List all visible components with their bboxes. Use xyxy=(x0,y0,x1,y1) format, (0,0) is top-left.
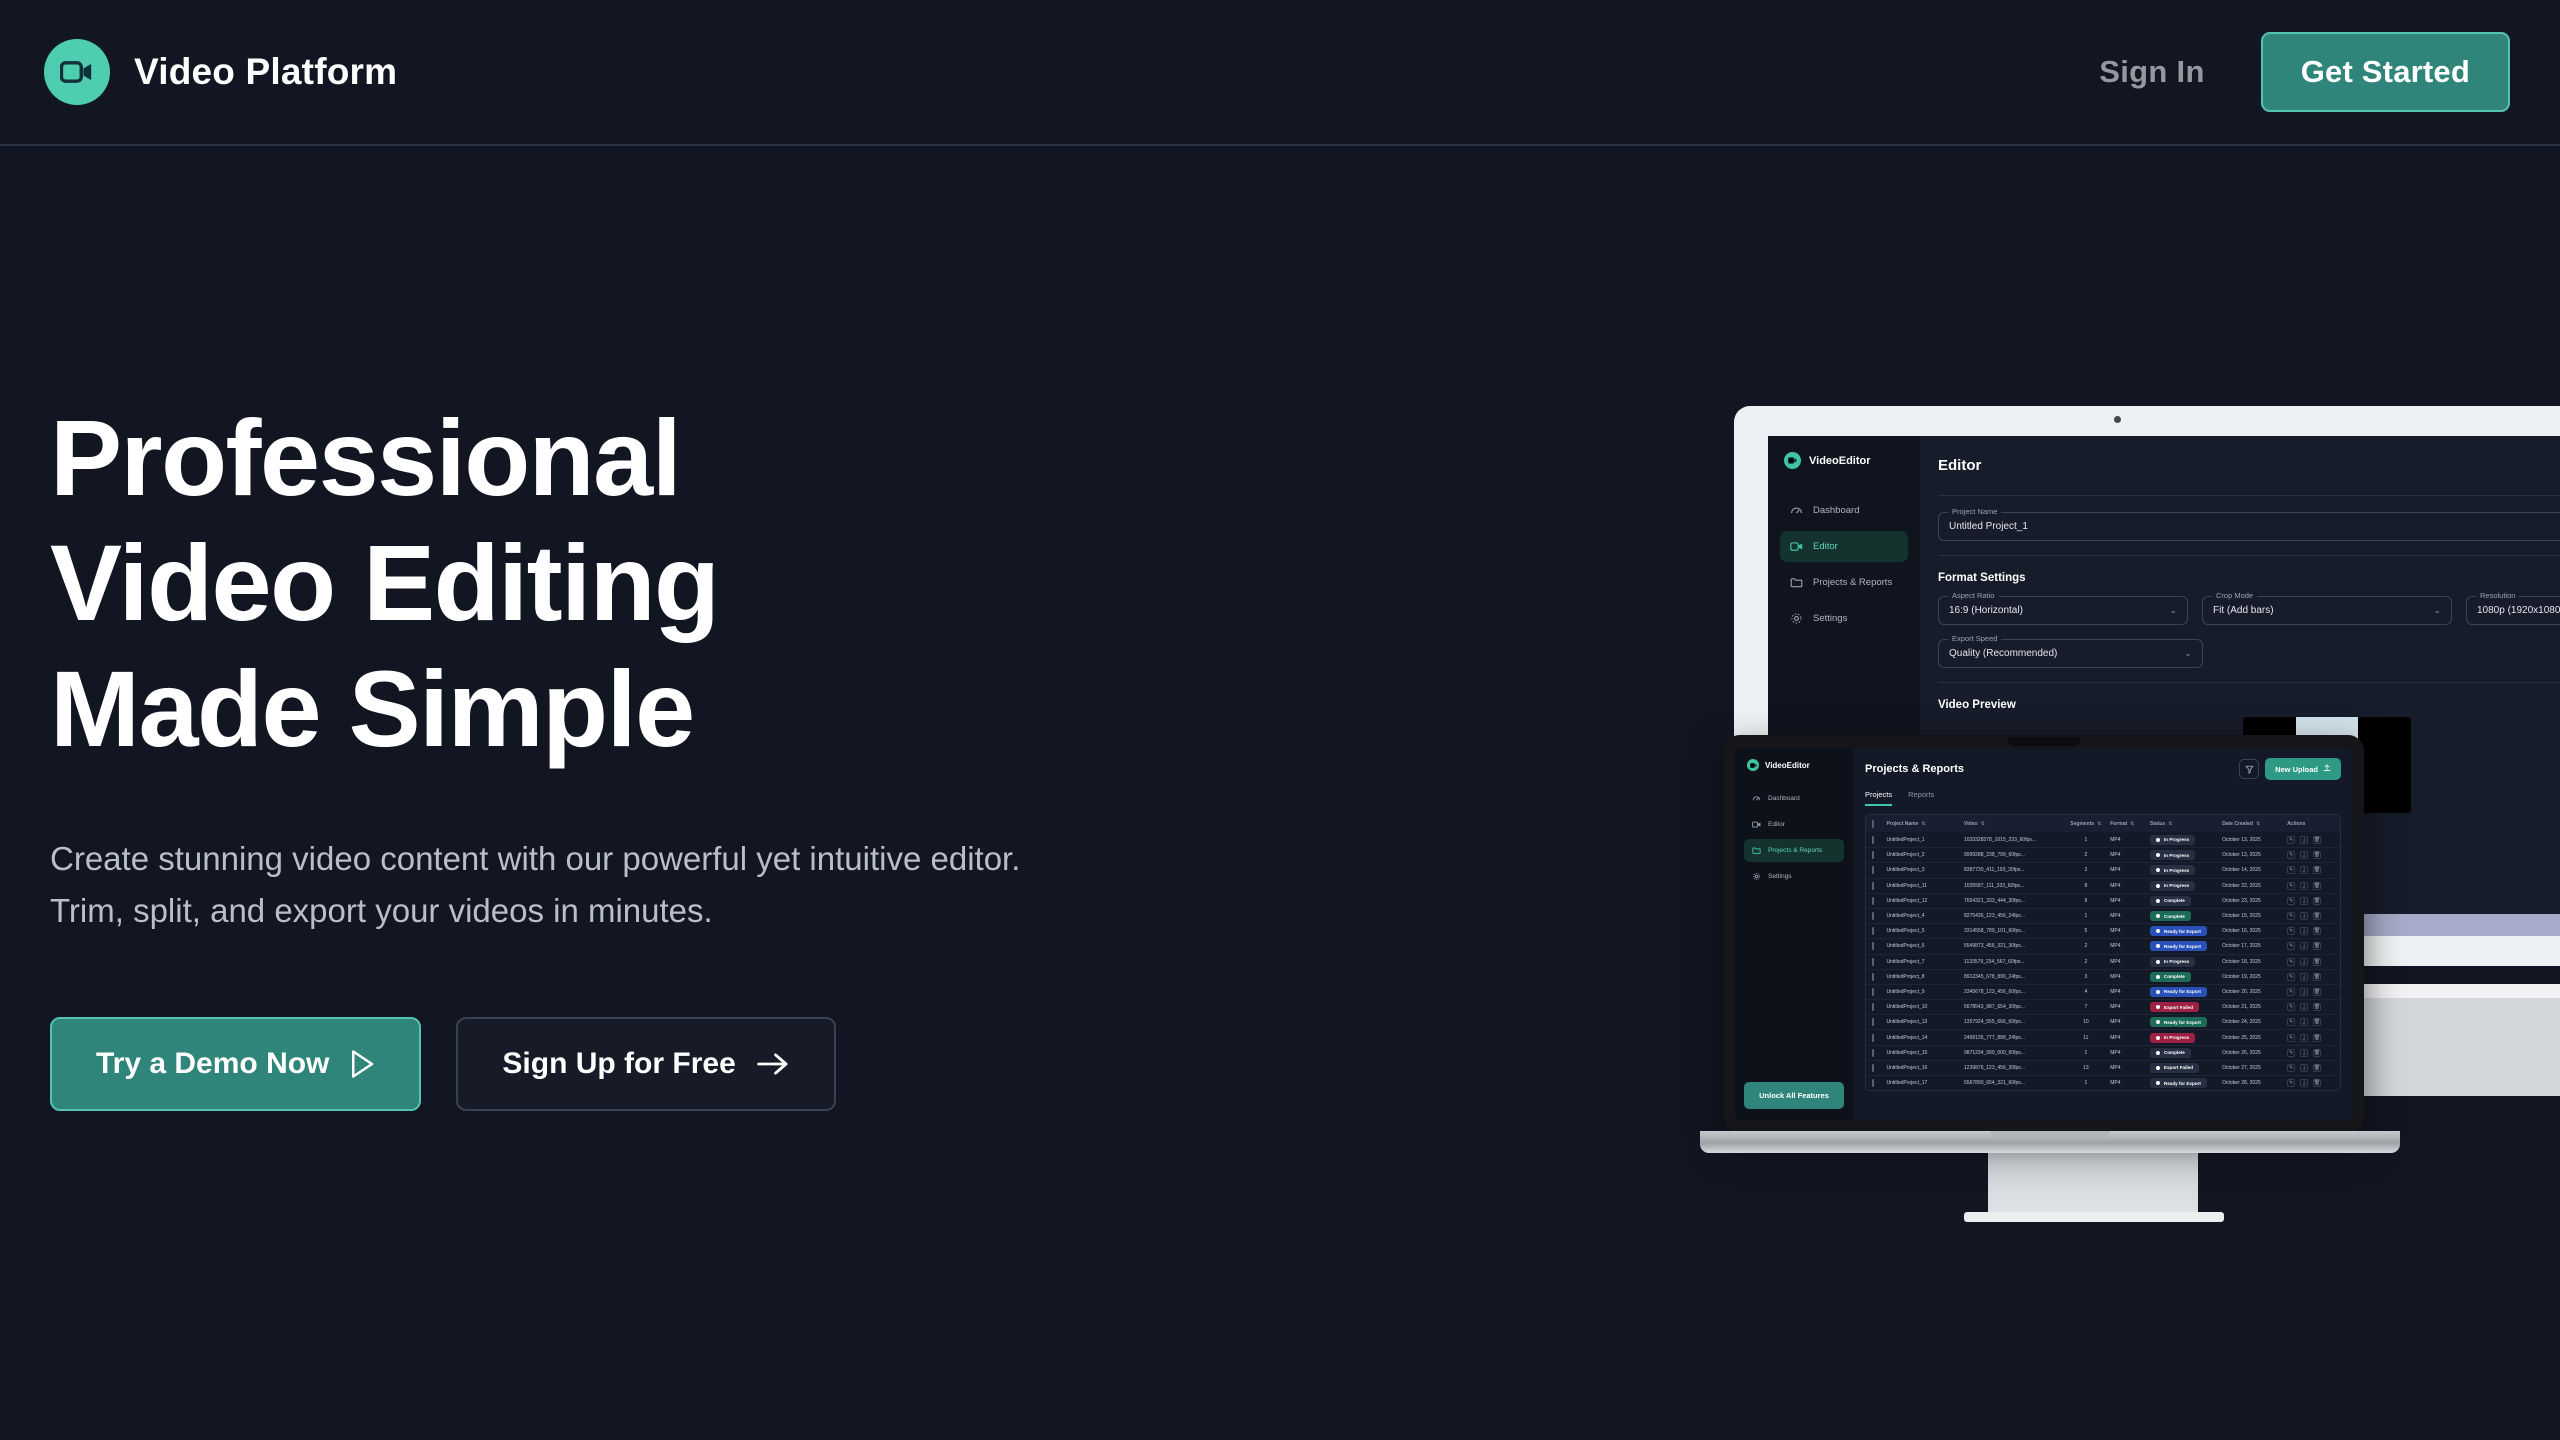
col-project-name[interactable]: Project Name⇅ xyxy=(1886,821,1964,827)
cell-format: MP4 xyxy=(2110,989,2150,995)
laptop-notch xyxy=(2008,737,2080,746)
cell-video: 1033328378_1015_233_60fps... xyxy=(1964,837,2061,843)
download-icon[interactable]: ⤓ xyxy=(2300,1079,2308,1087)
cell-date-created: October 17, 2025 xyxy=(2222,943,2287,949)
row-checkbox[interactable] xyxy=(1872,913,1886,919)
cell-date-created: October 25, 2025 xyxy=(2222,1035,2287,1041)
row-checkbox[interactable] xyxy=(1872,943,1886,949)
download-icon[interactable]: ⤓ xyxy=(2300,973,2308,981)
cell-actions: ✎⤓🗑 xyxy=(2287,1079,2334,1087)
cell-video: 2468135_777_888_24fps... xyxy=(1964,1035,2061,1041)
row-checkbox[interactable] xyxy=(1872,1050,1886,1056)
status-badge: Complete xyxy=(2150,911,2222,921)
row-checkbox[interactable] xyxy=(1872,989,1886,995)
cell-video: 5567890_654_321_60fps... xyxy=(1964,1080,2061,1086)
table-row[interactable]: UntitledProject_88912345_678_890_24fps..… xyxy=(1866,969,2340,984)
video-camera-icon xyxy=(44,39,110,105)
sign-up-free-button[interactable]: Sign Up for Free xyxy=(456,1017,835,1111)
cell-video: 8387730_411_193_30fps... xyxy=(1964,867,2061,873)
col-status[interactable]: Status⇅ xyxy=(2150,821,2222,827)
editor-brand-name: VideoEditor xyxy=(1809,455,1871,467)
edit-icon[interactable]: ✎ xyxy=(2287,1064,2295,1072)
aspect-ratio-select[interactable]: Aspect Ratio 16:9 (Horizontal) ⌄ xyxy=(1938,596,2188,625)
delete-icon[interactable]: 🗑 xyxy=(2313,1003,2321,1011)
cell-video: 8275436_123_456_24fps... xyxy=(1964,913,2061,919)
delete-icon[interactable]: 🗑 xyxy=(2313,988,2321,996)
edit-icon[interactable]: ✎ xyxy=(2287,942,2295,950)
crop-mode-value: Fit (Add bars) xyxy=(2213,605,2274,616)
cell-project-name: UntitledProject_9 xyxy=(1886,989,1964,995)
cell-actions: ✎⤓🗑 xyxy=(2287,973,2334,981)
cell-format: MP4 xyxy=(2110,1050,2150,1056)
laptop-screen: VideoEditor Dashboard Edit xyxy=(1735,748,2353,1120)
chevron-down-icon: ⌄ xyxy=(2433,605,2441,616)
cell-project-name: UntitledProject_7 xyxy=(1886,959,1964,965)
col-segments[interactable]: Segments⇅ xyxy=(2061,821,2110,827)
cell-segments: 3 xyxy=(2061,867,2110,873)
sidebar-label: Settings xyxy=(1813,613,1847,624)
projects-header-actions: New Upload xyxy=(2239,758,2341,780)
cell-actions: ✎⤓🗑 xyxy=(2287,1018,2334,1026)
row-checkbox[interactable] xyxy=(1872,1035,1886,1041)
sidebar-item-projects-reports[interactable]: Projects & Reports xyxy=(1780,567,1908,598)
edit-icon[interactable]: ✎ xyxy=(2287,882,2295,890)
cell-segments: 9 xyxy=(2061,898,2110,904)
landing-page: Video Platform Sign In Get Started Profe… xyxy=(0,0,2560,1440)
download-icon[interactable]: ⤓ xyxy=(2300,942,2308,950)
col-video[interactable]: Video⇅ xyxy=(1964,821,2061,827)
cell-actions: ✎⤓🗑 xyxy=(2287,1034,2334,1042)
arrow-right-icon xyxy=(756,1051,790,1077)
laptop-mockup: VideoEditor Dashboard Edit xyxy=(1700,735,2400,1175)
section-divider xyxy=(1938,555,2560,556)
cell-actions: ✎⤓🗑 xyxy=(2287,912,2334,920)
delete-icon[interactable]: 🗑 xyxy=(2313,851,2321,859)
col-format[interactable]: Format⇅ xyxy=(2110,821,2150,827)
status-badge: Complete xyxy=(2150,896,2222,906)
download-icon[interactable]: ⤓ xyxy=(2300,927,2308,935)
download-icon[interactable]: ⤓ xyxy=(2300,836,2308,844)
edit-icon[interactable]: ✎ xyxy=(2287,1049,2295,1057)
video-icon xyxy=(1784,452,1801,469)
cell-video: 3314558_789_101_60fps... xyxy=(1964,928,2061,934)
video-icon xyxy=(1747,759,1759,771)
edit-icon[interactable]: ✎ xyxy=(2287,927,2295,935)
cell-segments: 2 xyxy=(2061,959,2110,965)
brand-logo-group[interactable]: Video Platform xyxy=(44,39,397,105)
cell-project-name: UntitledProject_2 xyxy=(1886,852,1964,858)
cell-video: 9999288_238_799_60fps... xyxy=(1964,852,2061,858)
cell-format: MP4 xyxy=(2110,1019,2150,1025)
edit-icon[interactable]: ✎ xyxy=(2287,958,2295,966)
cell-format: MP4 xyxy=(2110,959,2150,965)
sidebar-item-settings[interactable]: Settings xyxy=(1780,603,1908,634)
table-row[interactable]: UntitledProject_92345678_123_456_60fps..… xyxy=(1866,984,2340,999)
cell-video: 5549873_456_321_30fps... xyxy=(1964,943,2061,949)
monitor-camera-dot xyxy=(2114,416,2121,423)
delete-icon[interactable]: 🗑 xyxy=(2313,927,2321,935)
new-upload-label: New Upload xyxy=(2275,765,2318,774)
status-badge: In Progress xyxy=(2150,1033,2222,1043)
export-speed-value: Quality (Recommended) xyxy=(1949,648,2057,659)
col-date-created[interactable]: Date Created⇅ xyxy=(2222,821,2287,827)
row-checkbox[interactable] xyxy=(1872,898,1886,904)
cell-format: MP4 xyxy=(2110,974,2150,980)
cell-actions: ✎⤓🗑 xyxy=(2287,1049,2334,1057)
page-title: Professional Video Editing Made Simple xyxy=(50,395,1100,771)
tab-projects[interactable]: Projects xyxy=(1865,790,1892,806)
delete-icon[interactable]: 🗑 xyxy=(2313,958,2321,966)
status-badge: In Progress xyxy=(2150,957,2222,967)
edit-icon[interactable]: ✎ xyxy=(2287,866,2295,874)
cell-segments: 2 xyxy=(2061,852,2110,858)
sidebar-item-dashboard[interactable]: Dashboard xyxy=(1780,495,1908,526)
cell-video: 5678543_987_654_30fps... xyxy=(1964,1004,2061,1010)
edit-icon[interactable]: ✎ xyxy=(2287,897,2295,905)
projects-brand: VideoEditor xyxy=(1744,759,1844,771)
hero-section: Professional Video Editing Made Simple C… xyxy=(50,395,1100,1111)
gear-icon xyxy=(1752,872,1761,881)
download-icon[interactable]: ⤓ xyxy=(2300,897,2308,905)
sign-up-label: Sign Up for Free xyxy=(502,1047,735,1081)
row-checkbox[interactable] xyxy=(1872,852,1886,858)
edit-icon[interactable]: ✎ xyxy=(2287,988,2295,996)
select-all-checkbox[interactable] xyxy=(1872,821,1886,827)
format-settings-title: Format Settings xyxy=(1938,572,2560,584)
resolution-select[interactable]: Resolution 1080p (1920x1080) ⌄ xyxy=(2466,596,2560,625)
download-icon[interactable]: ⤓ xyxy=(2300,851,2308,859)
cell-actions: ✎⤓🗑 xyxy=(2287,882,2334,890)
sort-icon: ⇅ xyxy=(2097,821,2101,827)
brand-name: Video Platform xyxy=(134,51,397,93)
format-fields-row-2: Export Speed Quality (Recommended) ⌄ xyxy=(1938,639,2560,668)
sidebar-item-projects-reports[interactable]: Projects & Reports xyxy=(1744,839,1844,862)
cell-video: 1133579_234_567_60fps... xyxy=(1964,959,2061,965)
cell-segments: 2 xyxy=(2061,943,2110,949)
status-badge: Complete xyxy=(2150,972,2222,982)
sort-icon: ⇅ xyxy=(2168,821,2172,827)
download-icon[interactable]: ⤓ xyxy=(2300,1064,2308,1072)
cell-date-created: October 23, 2025 xyxy=(2222,898,2287,904)
filter-icon[interactable] xyxy=(2239,759,2259,779)
projects-tabs: Projects Reports xyxy=(1865,790,2341,806)
table-row[interactable]: UntitledProject_127654321_333_444_30fps.… xyxy=(1866,893,2340,908)
delete-icon[interactable]: 🗑 xyxy=(2313,1064,2321,1072)
gear-icon xyxy=(1790,612,1803,625)
download-icon[interactable]: ⤓ xyxy=(2300,1018,2308,1026)
status-badge: Ready for Export xyxy=(2150,1017,2222,1027)
cell-actions: ✎⤓🗑 xyxy=(2287,866,2334,874)
folder-icon xyxy=(1790,576,1803,589)
cell-video: 8912345_678_890_24fps... xyxy=(1964,974,2061,980)
upload-icon xyxy=(2323,764,2331,774)
cell-date-created: October 21, 2025 xyxy=(2222,1004,2287,1010)
cell-segments: 10 xyxy=(2061,1019,2110,1025)
play-icon xyxy=(349,1049,375,1079)
cell-project-name: UntitledProject_14 xyxy=(1886,1035,1964,1041)
sign-in-link[interactable]: Sign In xyxy=(2099,54,2204,90)
cell-segments: 1 xyxy=(2061,837,2110,843)
table-row[interactable]: UntitledProject_53314558_789_101_60fps..… xyxy=(1866,923,2340,938)
delete-icon[interactable]: 🗑 xyxy=(2313,1034,2321,1042)
video-preview-title: Video Preview xyxy=(1938,699,2016,711)
download-icon[interactable]: ⤓ xyxy=(2300,988,2308,996)
crop-mode-label: Crop Mode xyxy=(2212,591,2257,600)
cell-actions: ✎⤓🗑 xyxy=(2287,988,2334,996)
chevron-down-icon: ⌄ xyxy=(2184,648,2192,659)
cell-segments: 4 xyxy=(2061,989,2110,995)
edit-icon[interactable]: ✎ xyxy=(2287,1003,2295,1011)
table-row[interactable]: UntitledProject_38387730_411_193_30fps..… xyxy=(1866,862,2340,877)
cell-segments: 11 xyxy=(2061,1035,2110,1041)
status-badge: Complete xyxy=(2150,1048,2222,1058)
cell-date-created: October 19, 2025 xyxy=(2222,974,2287,980)
table-row[interactable]: UntitledProject_11033328378_1015_233_60f… xyxy=(1866,832,2340,847)
cell-segments: 8 xyxy=(2061,883,2110,889)
status-badge: In Progress xyxy=(2150,865,2222,875)
cell-project-name: UntitledProject_10 xyxy=(1886,1004,1964,1010)
status-badge: Ready for Export xyxy=(2150,1078,2222,1088)
table-row[interactable]: UntitledProject_71133579_234_567_60fps..… xyxy=(1866,954,2340,969)
hero-cta-row: Try a Demo Now Sign Up for Free xyxy=(50,1017,1100,1111)
sort-icon: ⇅ xyxy=(2256,821,2260,827)
delete-icon[interactable]: 🗑 xyxy=(2313,1049,2321,1057)
cell-actions: ✎⤓🗑 xyxy=(2287,927,2334,935)
try-demo-label: Try a Demo Now xyxy=(96,1047,329,1081)
projects-table: Project Name⇅ Video⇅ Segments⇅ Format⇅ S… xyxy=(1865,814,2341,1091)
sidebar-item-editor[interactable]: Editor xyxy=(1744,813,1844,836)
download-icon[interactable]: ⤓ xyxy=(2300,882,2308,890)
download-icon[interactable]: ⤓ xyxy=(2300,1003,2308,1011)
new-upload-button[interactable]: New Upload xyxy=(2265,758,2341,780)
download-icon[interactable]: ⤓ xyxy=(2300,912,2308,920)
cell-project-name: UntitledProject_12 xyxy=(1886,898,1964,904)
cell-date-created: October 22, 2025 xyxy=(2222,883,2287,889)
cell-project-name: UntitledProject_1 xyxy=(1886,837,1964,843)
sidebar-label: Editor xyxy=(1768,821,1785,828)
projects-main-panel: Projects & Reports New Upload xyxy=(1853,748,2353,1120)
cell-format: MP4 xyxy=(2110,852,2150,858)
edit-icon[interactable]: ✎ xyxy=(2287,1034,2295,1042)
cell-actions: ✎⤓🗑 xyxy=(2287,1064,2334,1072)
editor-page-title: Editor xyxy=(1938,457,1981,474)
tab-reports[interactable]: Reports xyxy=(1908,790,1934,806)
table-row[interactable]: UntitledProject_48275436_123_456_24fps..… xyxy=(1866,908,2340,923)
cell-format: MP4 xyxy=(2110,913,2150,919)
table-row[interactable]: UntitledProject_29999288_238_799_60fps..… xyxy=(1866,847,2340,862)
sidebar-label: Projects & Reports xyxy=(1768,847,1822,854)
cell-project-name: UntitledProject_4 xyxy=(1886,913,1964,919)
table-row[interactable]: UntitledProject_142468135_777_888_24fps.… xyxy=(1866,1029,2340,1044)
cell-project-name: UntitledProject_15 xyxy=(1886,1050,1964,1056)
cell-date-created: October 28, 2025 xyxy=(2222,1080,2287,1086)
cell-video: 9871234_999_000_60fps... xyxy=(1964,1050,2061,1056)
crop-mode-select[interactable]: Crop Mode Fit (Add bars) ⌄ xyxy=(2202,596,2452,625)
cell-date-created: October 24, 2025 xyxy=(2222,1019,2287,1025)
monitor-stand-foot xyxy=(1964,1212,2224,1222)
header-divider xyxy=(1938,495,2560,496)
row-checkbox[interactable] xyxy=(1872,974,1886,980)
cell-format: MP4 xyxy=(2110,837,2150,843)
cell-segments: 13 xyxy=(2061,1065,2110,1071)
row-checkbox[interactable] xyxy=(1872,959,1886,965)
preview-header: Video Preview Video player size xyxy=(1938,699,2560,711)
cell-date-created: October 14, 2025 xyxy=(2222,867,2287,873)
cell-video: 1239876_123_456_30fps... xyxy=(1964,1065,2061,1071)
unlock-all-features-button[interactable]: Unlock All Features xyxy=(1744,1082,1844,1109)
sidebar-label: Dashboard xyxy=(1768,795,1800,802)
video-icon xyxy=(1790,540,1803,553)
download-icon[interactable]: ⤓ xyxy=(2300,866,2308,874)
aspect-ratio-label: Aspect Ratio xyxy=(1948,591,1999,600)
cell-video: 2345678_123_456_60fps... xyxy=(1964,989,2061,995)
row-checkbox[interactable] xyxy=(1872,867,1886,873)
project-name-value: Untitled Project_1 xyxy=(1949,521,2028,532)
resolution-label: Resolution xyxy=(2476,591,2519,600)
row-checkbox[interactable] xyxy=(1872,837,1886,843)
edit-icon[interactable]: ✎ xyxy=(2287,851,2295,859)
sort-icon: ⇅ xyxy=(1921,821,1925,827)
try-demo-button[interactable]: Try a Demo Now xyxy=(50,1017,421,1111)
status-badge: Export Failed xyxy=(2150,1063,2222,1073)
delete-icon[interactable]: 🗑 xyxy=(2313,866,2321,874)
cell-format: MP4 xyxy=(2110,883,2150,889)
delete-icon[interactable]: 🗑 xyxy=(2313,1079,2321,1087)
download-icon[interactable]: ⤓ xyxy=(2300,1049,2308,1057)
row-checkbox[interactable] xyxy=(1872,1065,1886,1071)
cell-format: MP4 xyxy=(2110,867,2150,873)
cell-format: MP4 xyxy=(2110,898,2150,904)
project-name-label: Project Name xyxy=(1948,507,2001,516)
table-row[interactable]: UntitledProject_65549873_456_321_30fps..… xyxy=(1866,938,2340,953)
cell-segments: 1 xyxy=(2061,913,2110,919)
cell-video: 1035587_111_333_60fps... xyxy=(1964,883,2061,889)
edit-icon[interactable]: ✎ xyxy=(2287,836,2295,844)
top-navigation-bar: Video Platform Sign In Get Started xyxy=(0,0,2560,146)
table-row[interactable]: UntitledProject_111035587_111_333_60fps.… xyxy=(1866,878,2340,893)
cell-segments: 3 xyxy=(2061,974,2110,980)
row-checkbox[interactable] xyxy=(1872,1080,1886,1086)
row-checkbox[interactable] xyxy=(1872,883,1886,889)
heading-line-2: Video Editing xyxy=(50,522,719,643)
cell-video: 1357924_555_666_60fps... xyxy=(1964,1019,2061,1025)
edit-icon[interactable]: ✎ xyxy=(2287,1018,2295,1026)
cell-project-name: UntitledProject_8 xyxy=(1886,974,1964,980)
project-name-field[interactable]: Project Name Untitled Project_1 xyxy=(1938,512,2560,541)
status-badge: Export Failed xyxy=(2150,1002,2222,1012)
cell-date-created: October 18, 2025 xyxy=(2222,959,2287,965)
cell-actions: ✎⤓🗑 xyxy=(2287,942,2334,950)
status-badge: Ready for Export xyxy=(2150,941,2222,951)
cell-date-created: October 20, 2025 xyxy=(2222,989,2287,995)
cell-project-name: UntitledProject_17 xyxy=(1886,1080,1964,1086)
table-row[interactable]: UntitledProject_161239876_123_456_30fps.… xyxy=(1866,1060,2340,1075)
edit-icon[interactable]: ✎ xyxy=(2287,973,2295,981)
video-icon xyxy=(1752,820,1761,829)
editor-brand: VideoEditor xyxy=(1780,452,1908,469)
export-speed-label: Export Speed xyxy=(1948,634,2001,643)
table-row[interactable]: UntitledProject_131357924_555_666_60fps.… xyxy=(1866,1014,2340,1029)
cell-format: MP4 xyxy=(2110,1065,2150,1071)
get-started-button[interactable]: Get Started xyxy=(2261,32,2510,112)
sidebar-item-settings[interactable]: Settings xyxy=(1744,865,1844,888)
sidebar-item-editor[interactable]: Editor xyxy=(1780,531,1908,562)
chevron-down-icon: ⌄ xyxy=(2169,605,2177,616)
sidebar-item-dashboard[interactable]: Dashboard xyxy=(1744,787,1844,810)
nav-actions: Sign In Get Started xyxy=(2099,32,2510,112)
cell-project-name: UntitledProject_6 xyxy=(1886,943,1964,949)
cell-segments: 1 xyxy=(2061,1080,2110,1086)
status-badge: Ready for Export xyxy=(2150,926,2222,936)
delete-icon[interactable]: 🗑 xyxy=(2313,882,2321,890)
delete-icon[interactable]: 🗑 xyxy=(2313,1018,2321,1026)
cell-segments: 1 xyxy=(2061,1050,2110,1056)
projects-sidebar: VideoEditor Dashboard Edit xyxy=(1735,748,1853,1120)
export-speed-select[interactable]: Export Speed Quality (Recommended) ⌄ xyxy=(1938,639,2203,668)
cell-date-created: October 27, 2025 xyxy=(2222,1065,2287,1071)
cell-actions: ✎⤓🗑 xyxy=(2287,897,2334,905)
sort-icon: ⇅ xyxy=(1981,821,1985,827)
laptop-lid: VideoEditor Dashboard Edit xyxy=(1724,735,2364,1133)
cell-date-created: October 16, 2025 xyxy=(2222,928,2287,934)
aspect-ratio-value: 16:9 (Horizontal) xyxy=(1949,605,2023,616)
editor-header: Editor Save Exp xyxy=(1938,450,2560,481)
status-badge: In Progress xyxy=(2150,881,2222,891)
download-icon[interactable]: ⤓ xyxy=(2300,958,2308,966)
cell-actions: ✎⤓🗑 xyxy=(2287,851,2334,859)
cell-date-created: October 26, 2025 xyxy=(2222,1050,2287,1056)
cell-actions: ✎⤓🗑 xyxy=(2287,836,2334,844)
status-badge: Ready for Export xyxy=(2150,987,2222,997)
cell-date-created: October 15, 2025 xyxy=(2222,913,2287,919)
sidebar-label: Projects & Reports xyxy=(1813,577,1892,588)
edit-icon[interactable]: ✎ xyxy=(2287,1079,2295,1087)
delete-icon[interactable]: 🗑 xyxy=(2313,897,2321,905)
download-icon[interactable]: ⤓ xyxy=(2300,1034,2308,1042)
cell-project-name: UntitledProject_11 xyxy=(1886,883,1964,889)
table-row[interactable]: UntitledProject_175567890_654_321_60fps.… xyxy=(1866,1075,2340,1090)
table-body: UntitledProject_11033328378_1015_233_60f… xyxy=(1866,832,2340,1090)
row-checkbox[interactable] xyxy=(1872,928,1886,934)
dashboard-icon xyxy=(1790,504,1803,517)
delete-icon[interactable]: 🗑 xyxy=(2313,942,2321,950)
delete-icon[interactable]: 🗑 xyxy=(2313,836,2321,844)
folder-icon xyxy=(1752,846,1761,855)
table-row[interactable]: UntitledProject_159871234_999_000_60fps.… xyxy=(1866,1045,2340,1060)
cell-segments: 7 xyxy=(2061,1004,2110,1010)
delete-icon[interactable]: 🗑 xyxy=(2313,912,2321,920)
row-checkbox[interactable] xyxy=(1872,1019,1886,1025)
edit-icon[interactable]: ✎ xyxy=(2287,912,2295,920)
sidebar-label: Settings xyxy=(1768,873,1792,880)
cell-project-name: UntitledProject_3 xyxy=(1886,867,1964,873)
heading-line-1: Professional xyxy=(50,397,680,518)
cell-format: MP4 xyxy=(2110,1080,2150,1086)
row-checkbox[interactable] xyxy=(1872,1004,1886,1010)
heading-line-3: Made Simple xyxy=(50,648,694,769)
cell-date-created: October 13, 2025 xyxy=(2222,852,2287,858)
device-mockup-group: VideoEditor Dashboard Edit xyxy=(1700,390,2560,1200)
cell-format: MP4 xyxy=(2110,1035,2150,1041)
delete-icon[interactable]: 🗑 xyxy=(2313,973,2321,981)
status-badge: In Progress xyxy=(2150,850,2222,860)
table-header-row: Project Name⇅ Video⇅ Segments⇅ Format⇅ S… xyxy=(1866,815,2340,832)
resolution-value: 1080p (1920x1080) xyxy=(2477,605,2560,616)
sidebar-label: Editor xyxy=(1813,541,1838,552)
cell-format: MP4 xyxy=(2110,928,2150,934)
table-row[interactable]: UntitledProject_105678543_987_654_30fps.… xyxy=(1866,999,2340,1014)
status-badge: In Progress xyxy=(2150,835,2222,845)
